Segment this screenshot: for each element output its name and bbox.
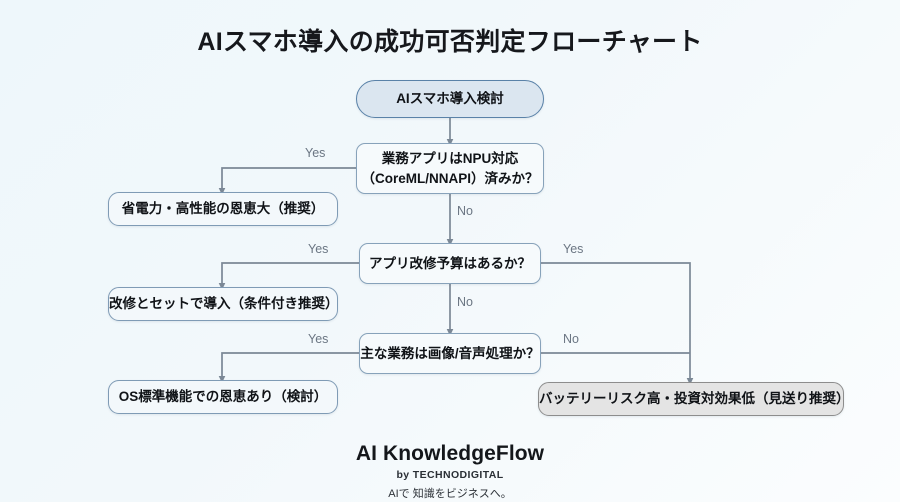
node-outcome2-label: 改修とセットで導入（条件付き推奨） [109,294,337,314]
edge-label-decision2-no: No [457,295,473,309]
node-terminal-label: バッテリーリスク高・投資対効果低（見送り推奨） [539,389,843,409]
node-decision1-line2: （CoreML/NNAPI）済みか？ [361,169,538,189]
brand-byline: by TECHNODIGITAL [0,469,900,481]
edge-decision1-yes [222,168,356,192]
edge-decision2-yes-right [541,263,690,382]
edge-label-decision2-yes-right: Yes [563,242,583,256]
node-terminal-battery-risk[interactable]: バッテリーリスク高・投資対効果低（見送り推奨） [538,382,844,416]
flowchart-canvas: AIスマホ導入の成功可否判定フローチャート AIスマホ [0,0,900,502]
edge-label-decision1-yes: Yes [305,146,325,160]
edge-label-decision3-no: No [563,332,579,346]
node-start[interactable]: AIスマホ導入検討 [356,80,544,118]
footer: AI KnowledgeFlow by TECHNODIGITAL AIで 知識… [0,442,900,501]
node-outcome-os-standard[interactable]: OS標準機能での恩恵あり（検討） [108,380,338,414]
node-start-label: AIスマホ導入検討 [396,89,504,109]
edge-label-decision1-no: No [457,204,473,218]
node-decision-media-workload[interactable]: 主な業務は画像/音声処理か？ [359,333,541,374]
node-outcome3-label: OS標準機能での恩恵あり（検討） [119,387,328,407]
edge-decision2-yes-left [222,263,359,287]
edge-label-decision3-yes: Yes [308,332,328,346]
edge-label-decision2-yes-left: Yes [308,242,328,256]
brand-title: AI KnowledgeFlow [0,442,900,466]
node-decision-budget[interactable]: アプリ改修予算はあるか？ [359,243,541,284]
node-decision3-label: 主な業務は画像/音声処理か？ [360,344,539,364]
edge-decision3-yes [222,353,359,380]
brand-tagline: AIで 知識をビジネスへ。 [0,485,900,501]
node-decision1-line1: 業務アプリはNPU対応 [382,149,519,169]
node-decision2-label: アプリ改修予算はあるか？ [369,254,531,274]
node-decision-npu-support[interactable]: 業務アプリはNPU対応 （CoreML/NNAPI）済みか？ [356,143,544,194]
node-outcome-power-performance[interactable]: 省電力・高性能の恩恵大（推奨） [108,192,338,226]
node-outcome-retrofit-set[interactable]: 改修とセットで導入（条件付き推奨） [108,287,338,321]
node-outcome1-label: 省電力・高性能の恩恵大（推奨） [122,199,325,219]
